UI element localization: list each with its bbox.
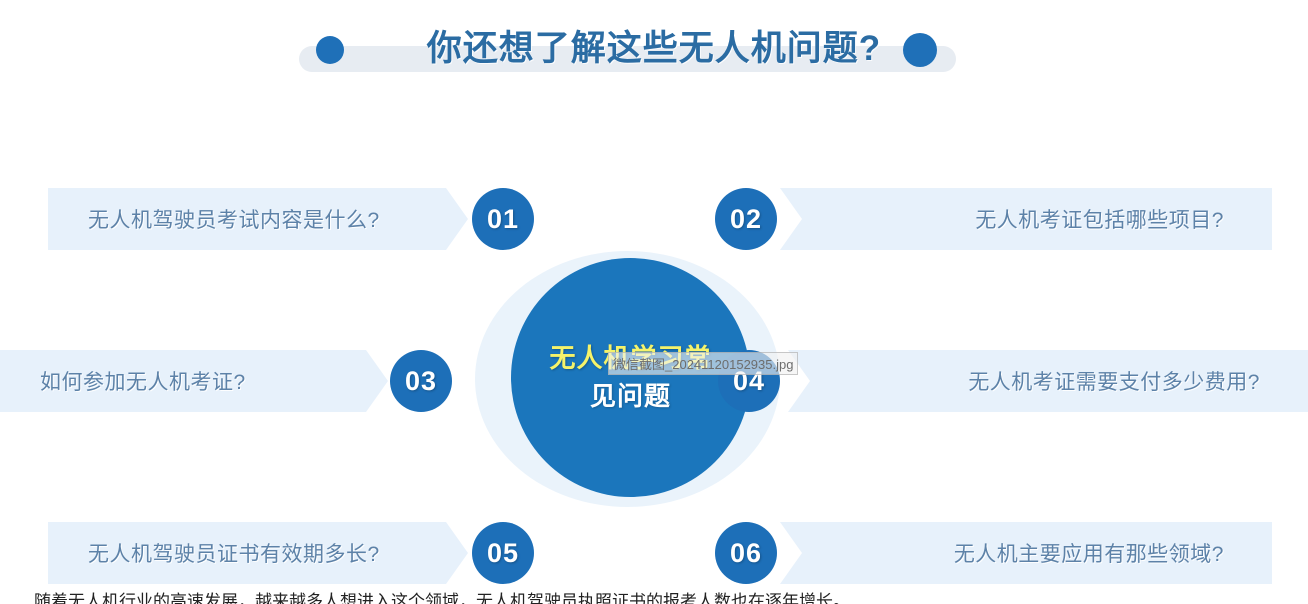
question-text-01: 无人机驾驶员考试内容是什么? xyxy=(88,204,380,234)
page-title: 你还想了解这些无人机问题? xyxy=(0,20,1308,71)
infographic-canvas: 你还想了解这些无人机问题? 无人机学习常 见问题 无人机驾驶员考试内容是什么? … xyxy=(0,0,1308,604)
question-number-01: 01 xyxy=(472,188,534,250)
question-box-02[interactable]: 无人机考证包括哪些项目? xyxy=(780,188,1272,250)
question-number-06: 06 xyxy=(715,522,777,584)
hub-label-line-2: 见问题 xyxy=(590,378,671,416)
question-box-03[interactable]: 如何参加无人机考证? xyxy=(0,350,388,412)
question-number-03: 03 xyxy=(390,350,452,412)
question-item-06[interactable]: 无人机主要应用有那些领域? 06 xyxy=(710,522,1308,584)
question-text-02: 无人机考证包括哪些项目? xyxy=(975,204,1224,234)
question-text-06: 无人机主要应用有那些领域? xyxy=(954,538,1224,568)
bottom-clipped-paragraph: 随着无人机行业的高速发展，越来越多人想进入这个领域，无人机驾驶员执照证书的报考人… xyxy=(34,592,1284,604)
question-item-03[interactable]: 如何参加无人机考证? 03 xyxy=(0,350,540,412)
filename-watermark: 微信截图_20241120152935.jpg xyxy=(608,352,798,375)
question-box-06[interactable]: 无人机主要应用有那些领域? xyxy=(780,522,1272,584)
page-header: 你还想了解这些无人机问题? xyxy=(0,0,1308,100)
question-text-05: 无人机驾驶员证书有效期多长? xyxy=(88,538,380,568)
question-text-03: 如何参加无人机考证? xyxy=(40,366,246,396)
question-box-04[interactable]: 无人机考证需要支付多少费用? xyxy=(788,350,1308,412)
question-number-02: 02 xyxy=(715,188,777,250)
question-item-04[interactable]: 无人机考证需要支付多少费用? 04 xyxy=(710,350,1308,412)
question-text-04: 无人机考证需要支付多少费用? xyxy=(968,366,1260,396)
question-item-02[interactable]: 无人机考证包括哪些项目? 02 xyxy=(710,188,1308,250)
question-number-05: 05 xyxy=(472,522,534,584)
question-box-05[interactable]: 无人机驾驶员证书有效期多长? xyxy=(48,522,468,584)
question-box-01[interactable]: 无人机驾驶员考试内容是什么? xyxy=(48,188,468,250)
question-item-01[interactable]: 无人机驾驶员考试内容是什么? 01 xyxy=(0,188,540,250)
question-item-05[interactable]: 无人机驾驶员证书有效期多长? 05 xyxy=(0,522,540,584)
